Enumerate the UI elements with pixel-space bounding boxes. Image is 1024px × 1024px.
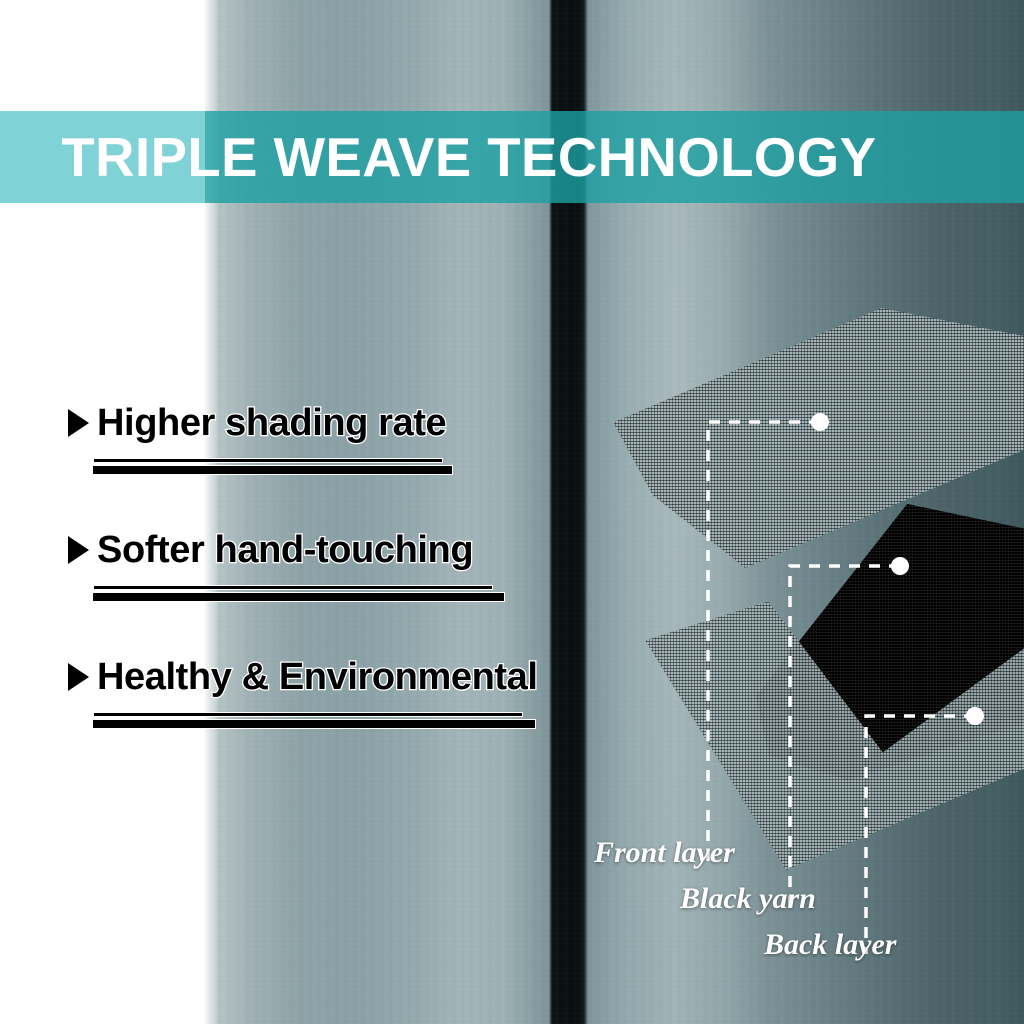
underline-thin — [93, 585, 493, 590]
underline-thick — [93, 465, 453, 475]
underline-thick — [93, 592, 505, 602]
callout-label-black-yarn: Black yarn — [680, 882, 816, 916]
headline-banner: TRIPLE WEAVE TECHNOLOGY — [0, 111, 1024, 203]
page-title: TRIPLE WEAVE TECHNOLOGY — [0, 111, 1014, 203]
feature-underline — [68, 712, 620, 729]
feature-underline — [68, 458, 620, 475]
feature-underline — [68, 585, 620, 602]
feature-item: Softer hand-touching — [0, 531, 620, 602]
feature-list: Higher shading rate Softer hand-touching… — [0, 404, 620, 785]
underline-thin — [93, 458, 443, 463]
fabric-layer-diagram — [560, 300, 1024, 860]
feature-label: Higher shading rate — [97, 404, 446, 444]
underline-thin — [93, 712, 523, 717]
underline-thick — [93, 719, 536, 729]
callout-label-front-layer: Front layer — [594, 836, 735, 870]
triangle-right-icon — [68, 536, 89, 564]
infographic-canvas: TRIPLE WEAVE TECHNOLOGY Higher shading r… — [0, 0, 1024, 1024]
feature-item: Healthy & Environmental — [0, 658, 620, 729]
triangle-right-icon — [68, 409, 89, 437]
feature-label: Healthy & Environmental — [97, 658, 538, 698]
triangle-right-icon — [68, 663, 89, 691]
feature-item: Higher shading rate — [0, 404, 620, 475]
feature-label: Softer hand-touching — [97, 531, 473, 571]
callout-label-back-layer: Back layer — [764, 928, 896, 962]
